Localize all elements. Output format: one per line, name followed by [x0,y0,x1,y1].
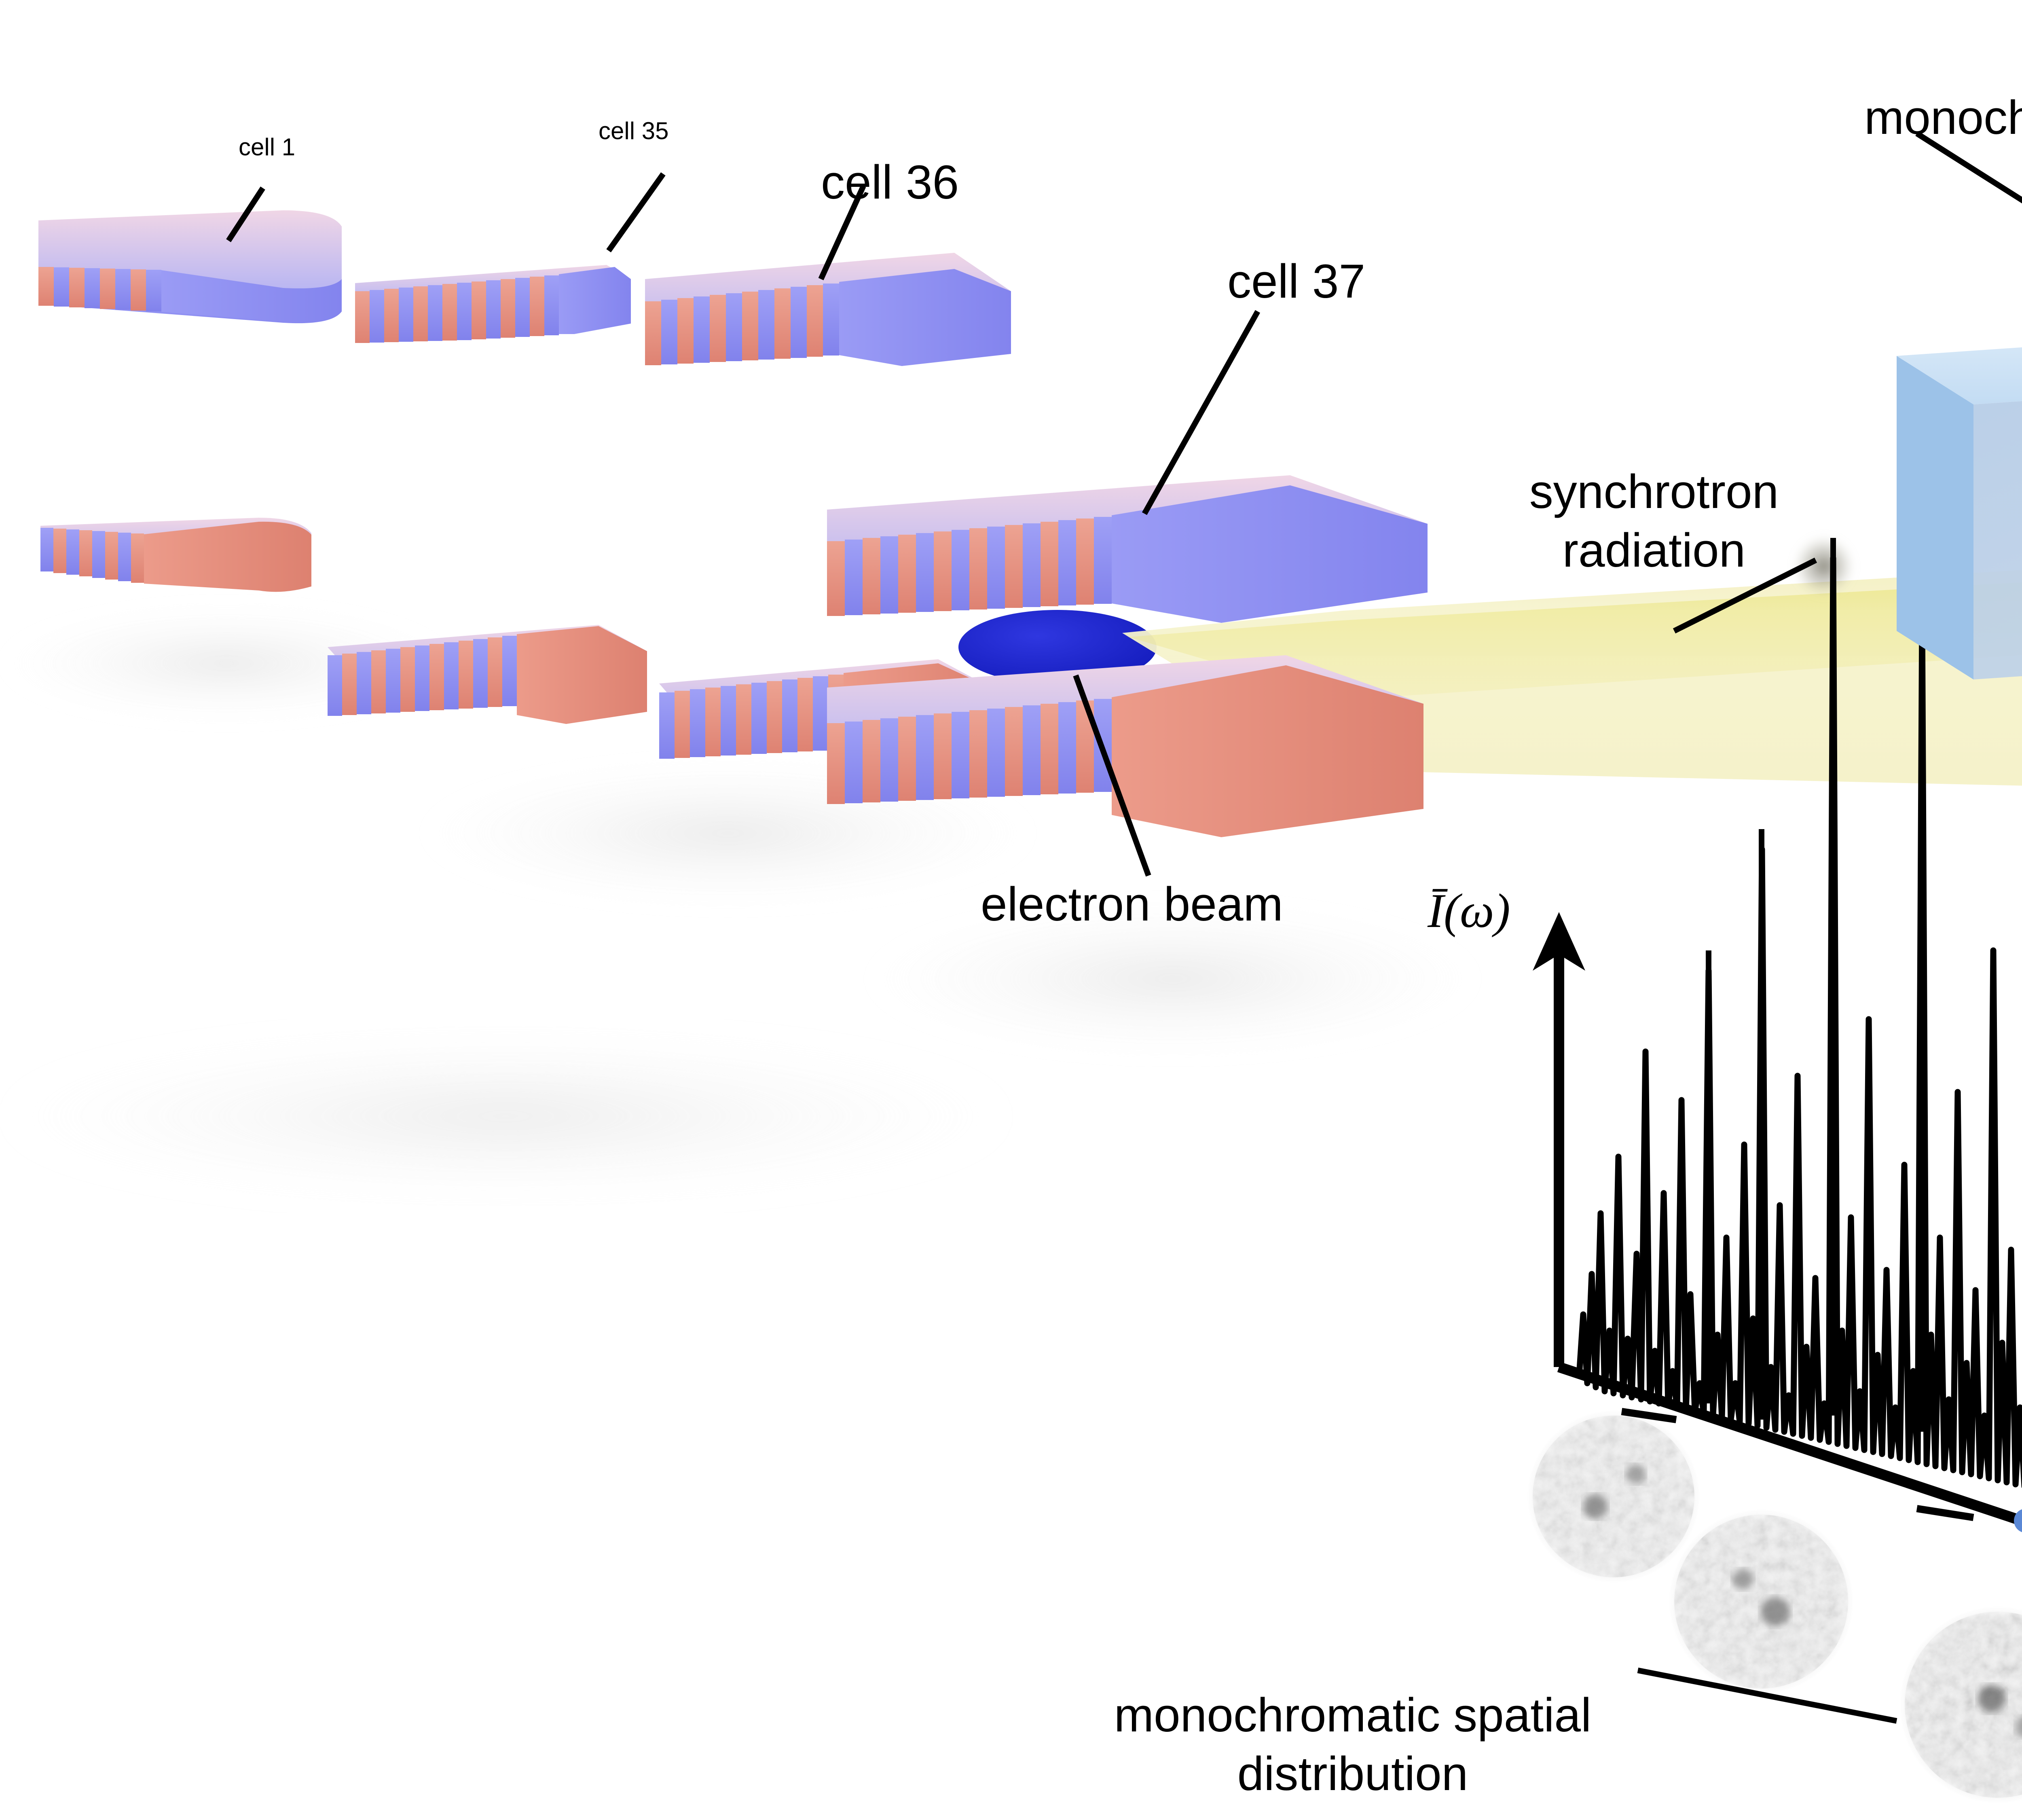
label-spatial-distribution-line2: distribution [1043,1747,1662,1801]
monochromatic-spatial-speckle-1 [1529,1412,1698,1581]
label-monochromator: monochromator [1864,91,2022,144]
leader-cell-35 [609,174,663,251]
label-cell-36: cell 36 [821,156,959,209]
label-synchrotron-radiation-line2: radiation [1498,524,1810,577]
leader-monochromator [1917,133,2022,340]
axis-label-y: Ī(ω) [1428,884,1510,938]
label-synchrotron-radiation-line1: synchrotron [1498,465,1810,518]
undulator-lower-left-segment-1 [40,518,311,592]
figure-canvas: cell 1 cell 35 cell 36 cell 37 electron … [0,0,2022,1820]
undulator-cell-37-upper-jaw [827,475,1428,623]
undulator-cell-35-upper [355,265,631,343]
monochromatic-spatial-speckle-2 [1674,1515,1848,1689]
label-cell-35: cell 35 [599,117,668,144]
undulator-cell-1-upper [38,210,342,323]
label-cell-1: cell 1 [239,133,295,161]
monochromatic-spatial-speckle-3 [1905,1612,2022,1798]
monochromator-plate-upper [1897,307,2022,679]
label-spatial-distribution-line1: monochromatic spatial [1043,1689,1662,1742]
label-cell-37: cell 37 [1227,255,1365,308]
label-electron-beam: electron beam [981,878,1283,931]
